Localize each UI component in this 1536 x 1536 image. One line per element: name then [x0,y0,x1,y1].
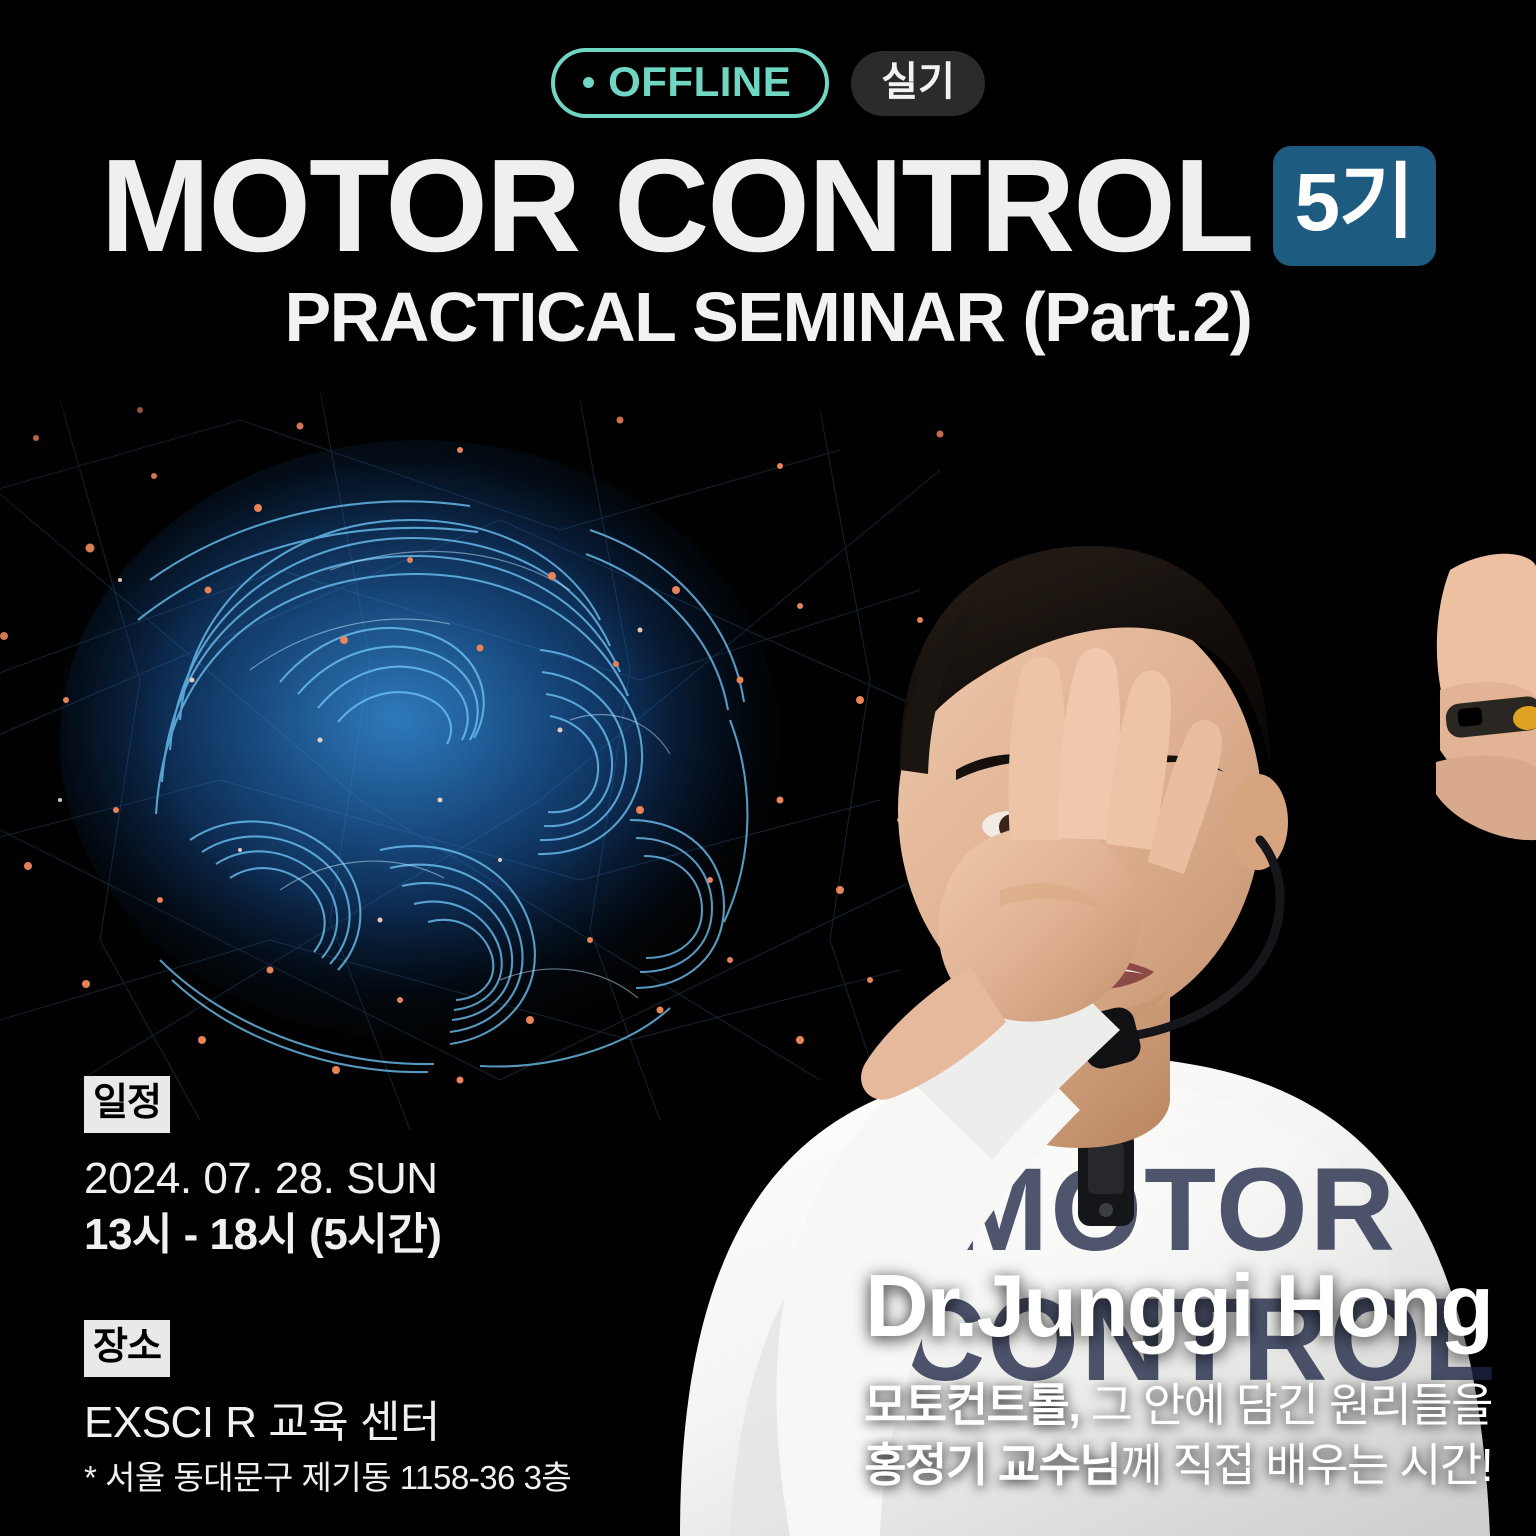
speaker-tagline-line1: 모토컨트롤, 그 안에 담긴 원리들을 [864,1376,1492,1436]
presenter-remote-hand [1436,554,1536,840]
speaker-block: Dr.Junggi Hong 모토컨트롤, 그 안에 담긴 원리들을 홍정기 교… [864,1262,1492,1496]
tagline-line2-rest: 께 직접 배우는 시간! [1120,1439,1492,1491]
venue-name: EXSCI R 교육 센터 [84,1395,571,1451]
speaker-tagline-line2: 홍정기 교수님께 직접 배우는 시간! [864,1436,1492,1496]
venue-label: 장소 [84,1320,170,1377]
page-subtitle: PRACTICAL SEMINAR (Part.2) [0,282,1536,352]
schedule-time: 13시 - 18시 (5시간) [84,1207,571,1263]
page-title: MOTOR CONTROL [100,140,1252,272]
cohort-badge: 5기 [1273,146,1436,266]
header-badges: OFFLINE 실기 [0,48,1536,118]
bullet-dot-icon [583,77,594,88]
venue-address: * 서울 동대문구 제기동 1158-36 3층 [84,1457,571,1500]
offline-badge-label: OFFLINE [608,61,791,103]
title-row: MOTOR CONTROL 5기 [0,140,1536,272]
practical-badge: 실기 [851,51,985,116]
speaker-name: Dr.Junggi Hong [864,1262,1492,1350]
schedule-block: 일정 2024. 07. 28. SUN 13시 - 18시 (5시간) [84,1076,571,1264]
schedule-label: 일정 [84,1076,170,1133]
event-info: 일정 2024. 07. 28. SUN 13시 - 18시 (5시간) 장소 … [84,1076,571,1500]
tagline-line2-emphasis: 홍정기 교수님 [864,1439,1120,1491]
tagline-line1-rest: 그 안에 담긴 원리들을 [1079,1379,1492,1431]
schedule-date: 2024. 07. 28. SUN [84,1151,571,1207]
offline-badge: OFFLINE [551,48,829,118]
venue-block: 장소 EXSCI R 교육 센터 * 서울 동대문구 제기동 1158-36 3… [84,1320,571,1500]
seminar-poster: MOTOR CONTROL [0,0,1536,1536]
tagline-line1-emphasis: 모토컨트롤, [864,1379,1079,1431]
